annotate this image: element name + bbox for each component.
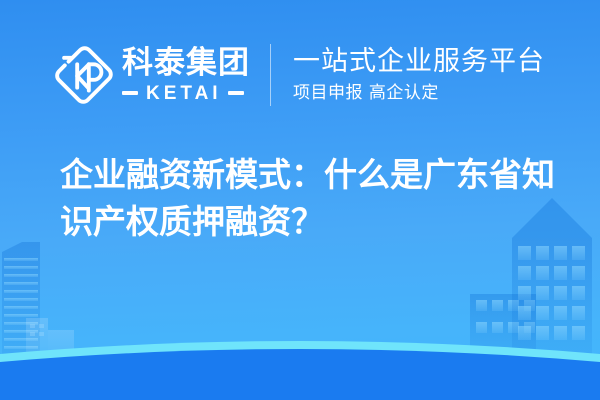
company-name-en-row: KETAI: [122, 84, 250, 103]
bottom-arc-decoration: [0, 300, 600, 400]
brand-header: 科泰集团 KETAI 一站式企业服务平台 项目申报 高企认定: [52, 38, 545, 112]
logo-wordmark: 科泰集团 KETAI: [122, 47, 250, 102]
wordmark-dash-left: [122, 91, 138, 95]
tagline-primary: 一站式企业服务平台: [293, 46, 545, 77]
wordmark-dash-right: [228, 91, 244, 95]
tagline-block: 一站式企业服务平台 项目申报 高企认定: [293, 46, 545, 103]
article-title: 企业融资新模式：什么是广东省知识产权质押融资？: [60, 152, 572, 246]
article-banner: 科泰集团 KETAI 一站式企业服务平台 项目申报 高企认定 企业融资新模式：什…: [0, 0, 600, 400]
tagline-secondary: 项目申报 高企认定: [293, 83, 545, 103]
ketai-diamond-monogram-logo-icon: [52, 44, 114, 106]
company-name-en: KETAI: [146, 84, 222, 103]
company-name-cn: 科泰集团: [122, 47, 250, 80]
header-divider: [270, 44, 271, 106]
